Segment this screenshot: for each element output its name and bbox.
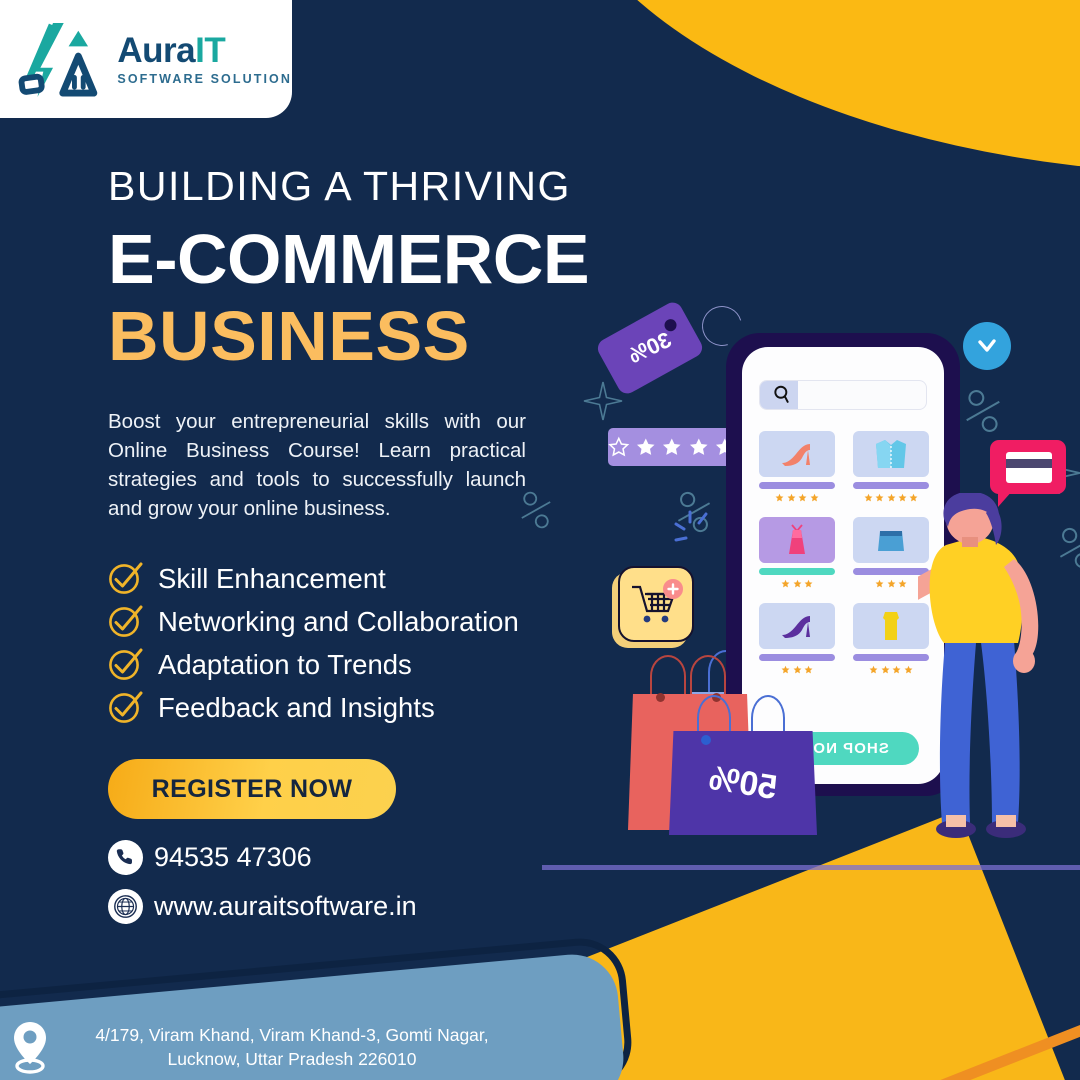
product-thumb-pink-dress xyxy=(759,517,835,563)
shopping-bag-icon: 50% xyxy=(665,695,825,835)
product-bar xyxy=(759,654,835,661)
list-item-label: Adaptation to Trends xyxy=(158,649,412,681)
star-filled-icon xyxy=(881,665,890,674)
shirt-icon xyxy=(871,437,911,471)
star-filled-icon xyxy=(798,493,807,502)
star-filled-icon xyxy=(898,579,907,588)
address-line-2: Lucknow, Uttar Pradesh 226010 xyxy=(54,1047,530,1071)
footer-address: 4/179, Viram Khand, Viram Khand-3, Gomti… xyxy=(10,1020,530,1074)
address-lines: 4/179, Viram Khand, Viram Khand-3, Gomti… xyxy=(54,1023,530,1071)
product-row xyxy=(759,431,929,502)
product-bar xyxy=(759,482,835,489)
content-column: BUILDING A THRIVING E-COMMERCE BUSINESS … xyxy=(108,163,688,924)
star-filled-icon xyxy=(793,579,802,588)
product-thumb-purple-high-heel xyxy=(759,603,835,649)
contact-website[interactable]: www.auraitsoftware.in xyxy=(108,889,688,924)
brand-logo[interactable]: AuraIT SOFTWARE SOLUTION xyxy=(0,0,292,118)
website-url: www.auraitsoftware.in xyxy=(154,891,417,922)
star-filled-icon xyxy=(804,665,813,674)
phone-icon xyxy=(108,840,143,875)
check-circle-icon xyxy=(108,604,143,639)
product-rating xyxy=(759,493,835,502)
star-filled-icon xyxy=(793,665,802,674)
percent-icon xyxy=(960,388,1006,434)
check-circle-icon xyxy=(108,561,143,596)
address-line-1: 4/179, Viram Khand, Viram Khand-3, Gomti… xyxy=(54,1023,530,1047)
aura-triangle-bolt-logo-icon xyxy=(18,16,111,102)
poster-canvas: 30% xyxy=(0,0,1080,1080)
feature-list: Skill Enhancement Networking and Collabo… xyxy=(108,561,688,725)
search-input[interactable] xyxy=(759,380,927,410)
logo-word-aura: Aura xyxy=(117,31,195,70)
star-filled-icon xyxy=(904,665,913,674)
logo-wordmark: AuraIT SOFTWARE SOLUTION xyxy=(117,33,292,86)
product-bar xyxy=(759,568,835,575)
shopper-character-icon xyxy=(918,493,1068,855)
credit-card-icon xyxy=(1006,452,1052,483)
product-bar xyxy=(853,482,929,489)
list-item: Networking and Collaboration xyxy=(108,604,688,639)
star-filled-icon xyxy=(875,579,884,588)
list-item-label: Networking and Collaboration xyxy=(158,606,519,638)
product-thumb-orange-high-heel xyxy=(759,431,835,477)
search-button[interactable] xyxy=(760,381,798,409)
bag-body: 50% xyxy=(669,731,817,835)
chevron-down-circle-icon xyxy=(963,322,1011,370)
list-item: Feedback and Insights xyxy=(108,690,688,725)
register-now-button[interactable]: REGISTER NOW xyxy=(108,759,396,819)
product-rating xyxy=(759,665,835,674)
product-card[interactable] xyxy=(759,431,835,502)
star-filled-icon xyxy=(864,493,873,502)
location-pin-icon xyxy=(10,1020,50,1074)
top-right-yellow-swoosh xyxy=(530,0,1080,171)
credit-card-stripe xyxy=(1006,459,1052,468)
star-filled-icon xyxy=(887,579,896,588)
headline-accent: BUSINESS xyxy=(108,301,688,372)
star-filled-icon xyxy=(781,579,790,588)
list-item: Skill Enhancement xyxy=(108,561,688,596)
star-filled-icon xyxy=(775,493,784,502)
star-filled-icon xyxy=(909,493,918,502)
high-heel-icon xyxy=(777,438,817,470)
product-row xyxy=(759,603,929,674)
globe-icon xyxy=(108,889,143,924)
bag-rivet xyxy=(701,735,711,745)
product-card[interactable] xyxy=(853,431,929,502)
product-rating xyxy=(759,579,835,588)
product-card[interactable] xyxy=(759,603,835,674)
bag-discount-label: 50% xyxy=(706,758,779,807)
logo-word-group: AuraIT xyxy=(117,33,292,68)
phone-number: 94535 47306 xyxy=(154,842,312,873)
check-circle-icon xyxy=(108,690,143,725)
headline-kicker: BUILDING A THRIVING xyxy=(108,163,688,210)
product-row xyxy=(759,517,929,588)
magnifier-icon xyxy=(768,384,790,406)
star-filled-icon xyxy=(898,493,907,502)
check-circle-icon xyxy=(108,647,143,682)
star-filled-icon xyxy=(787,493,796,502)
product-card[interactable] xyxy=(759,517,835,588)
star-filled-icon xyxy=(804,579,813,588)
star-filled-icon xyxy=(892,665,901,674)
tank-top-icon xyxy=(875,608,907,644)
high-heel-icon xyxy=(777,610,817,642)
list-item-label: Feedback and Insights xyxy=(158,692,435,724)
product-grid xyxy=(759,431,929,689)
star-filled-icon xyxy=(875,493,884,502)
list-item-label: Skill Enhancement xyxy=(158,563,386,595)
description-paragraph: Boost your entrepreneurial skills with o… xyxy=(108,407,526,523)
skirt-icon xyxy=(872,525,910,555)
star-filled-icon xyxy=(688,436,710,458)
star-filled-icon xyxy=(781,665,790,674)
star-filled-icon xyxy=(869,665,878,674)
bag-handle xyxy=(690,655,726,697)
contact-phone[interactable]: 94535 47306 xyxy=(108,840,688,875)
dress-icon xyxy=(781,522,813,558)
star-filled-icon xyxy=(887,493,896,502)
list-item: Adaptation to Trends xyxy=(108,647,688,682)
product-thumb-blue-shirt xyxy=(853,431,929,477)
logo-tagline: SOFTWARE SOLUTION xyxy=(117,73,292,86)
headline-main: E-COMMERCE xyxy=(108,224,688,295)
logo-word-it: IT xyxy=(195,31,225,70)
star-filled-icon xyxy=(810,493,819,502)
